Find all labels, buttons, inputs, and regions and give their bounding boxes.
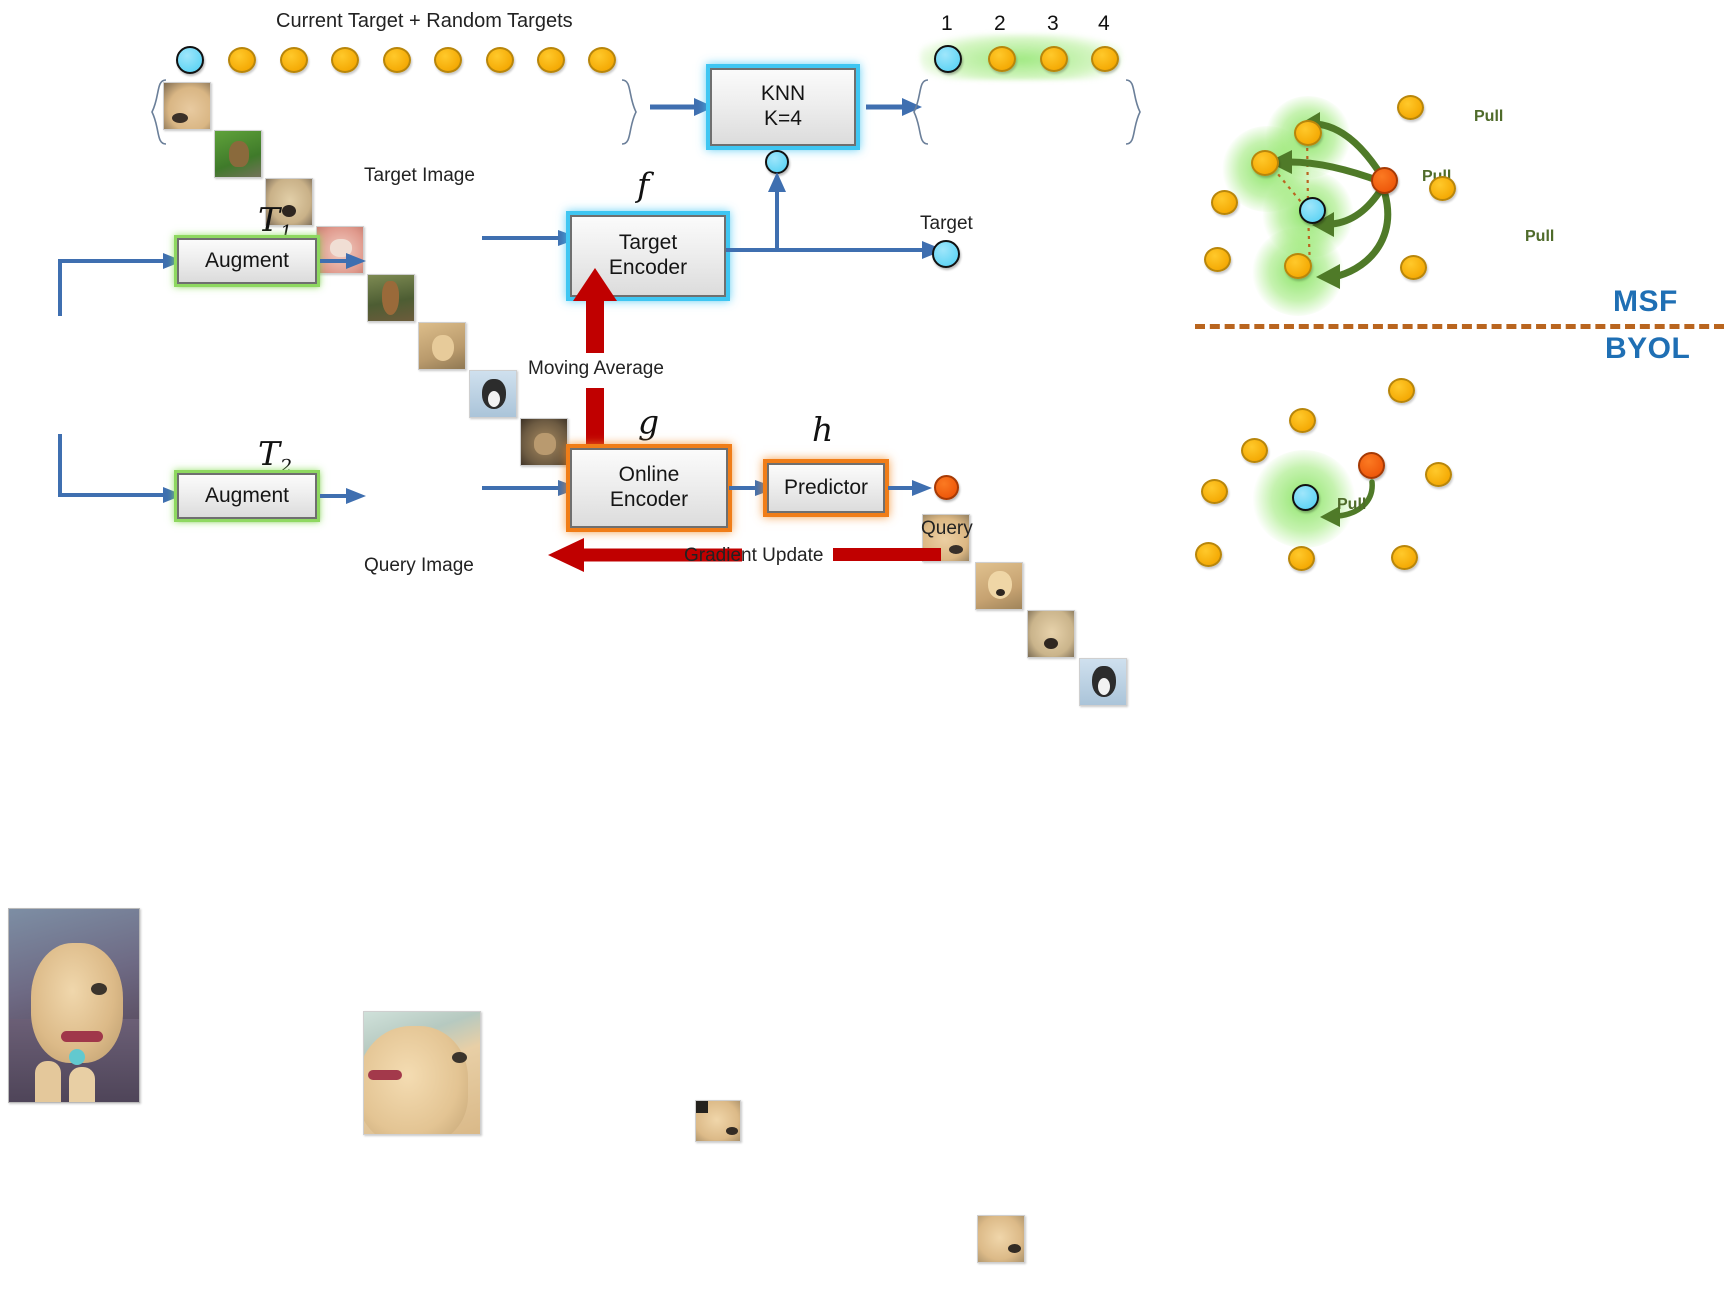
target-encoder-line2: Encoder [609,256,687,281]
neighbor-dot-2 [988,46,1016,72]
knn-title: KNN [761,82,805,107]
augment-box-top[interactable]: Augment [177,238,317,284]
target-dot-random-1 [228,47,256,73]
gradient-update-shaft-right [833,548,941,561]
thumbnail-neighbor-3 [1027,610,1075,658]
thumbnail-target-0 [163,82,211,130]
query-output-label: Query [921,518,973,540]
predictor-box[interactable]: Predictor [767,463,885,513]
knn-box[interactable]: KNN K=4 [710,68,856,146]
target-output-label: Target [920,213,973,235]
t2-symbol: T [258,434,280,473]
neighbor-rank-3: 3 [1047,12,1059,36]
online-encoder-line1: Online [619,463,680,488]
msf-bg-dot-3 [1211,190,1238,215]
augment-box-bottom[interactable]: Augment [177,473,317,519]
target-image-label: Target Image [364,165,475,187]
byol-bg-dot-1 [1388,378,1415,403]
arrow-augment-top-to-target-image [320,251,368,271]
thumbnail-target-1 [214,130,262,178]
source-branch-arrows [55,248,285,508]
arrow-predictor-to-query [888,478,936,498]
arrow-targets-to-knn [650,96,716,118]
byol-bg-dot-2 [1289,408,1316,433]
byol-label: BYOL [1605,332,1690,366]
neighbor-rank-2: 2 [994,12,1006,36]
msf-pull-label-1: Pull [1474,108,1503,126]
neighbor-dot-1 [934,45,962,73]
right-brace-neighbors [1124,78,1146,148]
byol-bg-dot-7 [1288,546,1315,571]
target-dot-random-7 [537,47,565,73]
top-caption: Current Target + Random Targets [276,10,573,33]
online-encoder-line2: Encoder [610,488,688,513]
target-encoder-line1: Target [619,231,677,256]
target-dot-random-5 [434,47,462,73]
predictor-symbol: h [812,410,833,449]
byol-bg-dot-4 [1201,479,1228,504]
target-dot-random-6 [486,47,514,73]
target-embedding-thumbnail [695,1100,741,1142]
augment-top-label: Augment [205,249,289,274]
msf-query-dot [1371,167,1398,194]
thumbnail-neighbor-2 [975,562,1023,610]
msf-pull-label-3: Pull [1525,228,1554,246]
msf-byol-divider [1195,324,1724,329]
msf-bg-dot-2 [1429,176,1456,201]
arrow-query-image-to-encoder [482,478,582,498]
target-encoder-symbol: f [637,165,649,204]
thumbnail-target-5 [418,322,466,370]
online-encoder-box[interactable]: Online Encoder [570,448,728,528]
query-image-label: Query Image [364,555,474,577]
online-encoder-symbol: g [638,402,659,441]
query-output-dot [934,475,959,500]
neighbor-rank-1: 1 [941,12,953,36]
diagram-canvas: Current Target + Random Targets [0,0,1724,648]
msf-pull-arrows [1240,100,1480,320]
target-output-thumbnail [977,1215,1025,1263]
msf-neighbor-dot-bottom [1284,253,1312,279]
thumbnail-target-6 [469,370,517,418]
gradient-update-label: Gradient Update [684,545,823,567]
left-brace-neighbors [908,78,930,148]
msf-neighbor-dot-left [1251,150,1279,176]
target-encoder-output-arrows [726,170,946,290]
neighbor-dot-4 [1091,46,1119,72]
t1-symbol: T [258,200,280,239]
target-dot-current [176,46,204,74]
augment-bottom-label: Augment [205,484,289,509]
target-dot-random-4 [383,47,411,73]
target-dot-random-2 [280,47,308,73]
right-brace-targets [620,78,642,148]
byol-pull-label: Pull [1337,496,1366,514]
target-dot-random-8 [588,47,616,73]
byol-bg-dot-6 [1195,542,1222,567]
byol-bg-dot-8 [1391,545,1418,570]
target-image [363,1011,481,1135]
msf-bg-dot-4 [1204,247,1231,272]
thumbnail-target-7 [520,418,568,466]
knn-k: K=4 [764,107,802,132]
thumbnail-neighbor-4 [1079,658,1127,706]
byol-bg-dot-5 [1425,462,1452,487]
thumbnail-target-4 [367,274,415,322]
moving-average-label: Moving Average [528,358,664,380]
target-output-dot [932,240,960,268]
target-dot-random-3 [331,47,359,73]
source-image [8,908,140,1103]
msf-bg-dot-5 [1400,255,1427,280]
transform-label-t2: T2 [258,434,292,478]
arrow-augment-bottom-to-query-image [320,486,368,506]
neighbor-rank-4: 4 [1098,12,1110,36]
msf-neighbor-dot-top [1294,120,1322,146]
byol-bg-dot-3 [1241,438,1268,463]
msf-target-dot [1299,197,1326,224]
moving-average-arrowhead [572,268,618,304]
msf-label: MSF [1613,285,1678,319]
neighbor-dot-3 [1040,46,1068,72]
predictor-label: Predictor [784,476,868,501]
arrow-target-image-to-encoder [482,228,582,248]
msf-bg-dot-1 [1397,95,1424,120]
